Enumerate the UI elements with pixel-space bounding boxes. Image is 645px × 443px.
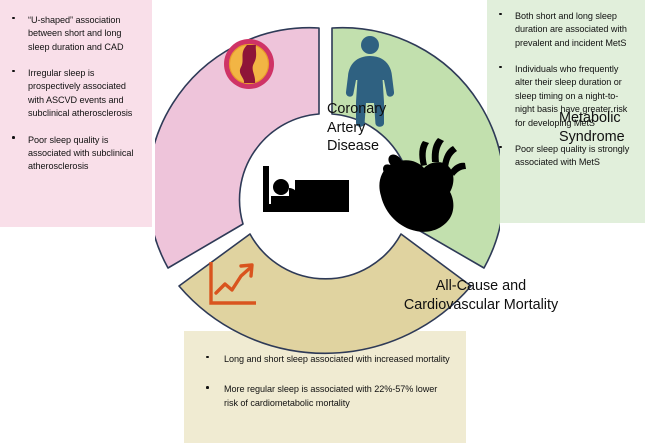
bullet-dot-icon: [12, 17, 15, 20]
list-item: “U-shaped” association between short and…: [8, 14, 142, 54]
list-item: Irregular sleep is prospectively associa…: [8, 67, 142, 120]
segment-label-coronary-artery-disease: Coronary Artery Disease: [327, 100, 419, 156]
bullet-text: Both short and long sleep duration are a…: [515, 11, 627, 48]
cad-text-panel: “U-shaped” association between short and…: [0, 0, 152, 227]
list-item: Poor sleep quality is strongly associate…: [495, 143, 637, 170]
atherosclerotic-artery-icon: [224, 39, 274, 89]
bullet-text: Poor sleep quality is strongly associate…: [515, 144, 629, 167]
bullet-text: Poor sleep quality is associated with su…: [28, 135, 133, 172]
cad-bullet-list: “U-shaped” association between short and…: [8, 14, 142, 174]
list-item: Both short and long sleep duration are a…: [495, 10, 637, 50]
list-item: Poor sleep quality is associated with su…: [8, 134, 142, 174]
segment-label-all-cause-cardiovascular-mortality: All-Cause and Cardiovascular Mortality: [337, 277, 625, 314]
sleep-cardiometabolic-ring-diagram: Coronary Artery Disease Metabolic Syndro…: [155, 0, 500, 400]
bullet-dot-icon: [12, 70, 15, 73]
bullet-text: “U-shaped” association between short and…: [28, 15, 123, 52]
bullet-dot-icon: [12, 136, 15, 139]
bullet-text: Irregular sleep is prospectively associa…: [28, 68, 132, 118]
segment-label-metabolic-syndrome: Metabolic Syndrome: [559, 109, 645, 146]
bed-sleep-icon: [263, 166, 349, 212]
